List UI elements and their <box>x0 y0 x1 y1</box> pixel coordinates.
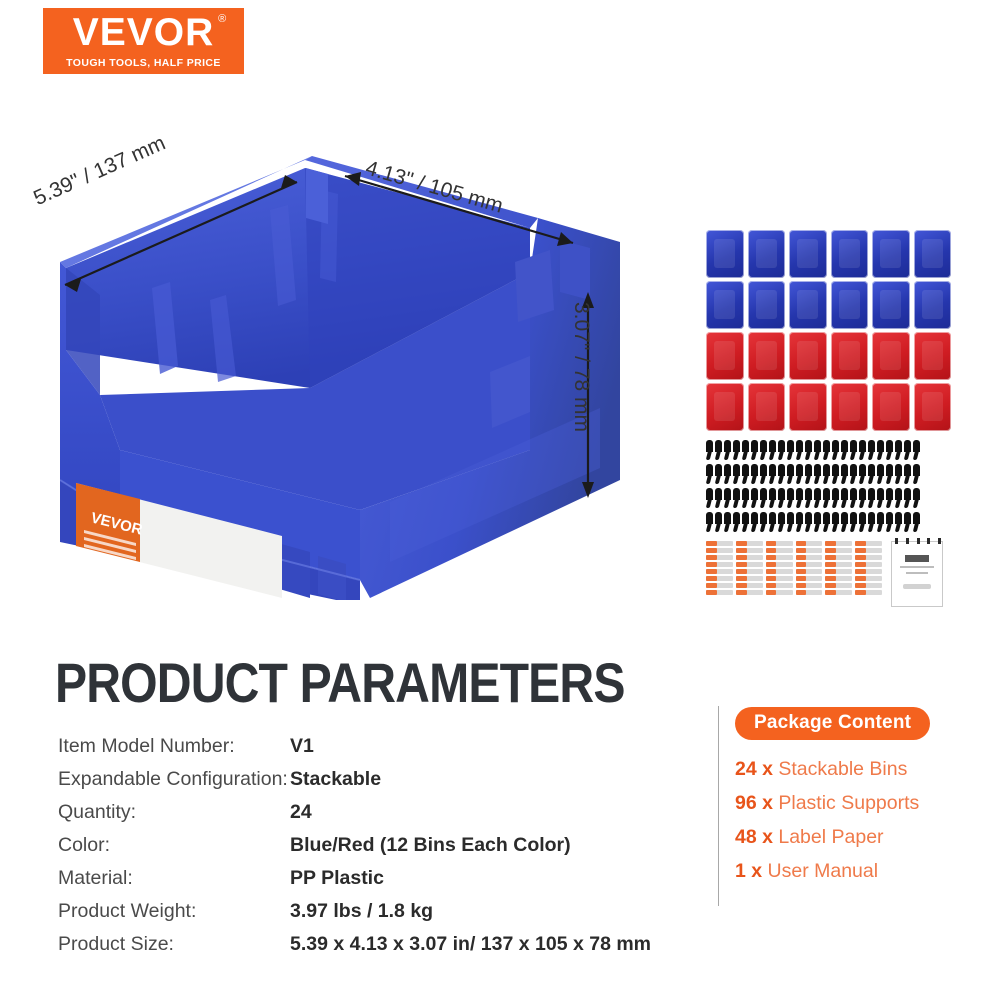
plastic-support-icon <box>841 464 849 483</box>
label-paper-strip <box>736 569 763 574</box>
plastic-support-icon <box>733 440 741 459</box>
arrowhead-icon <box>582 482 594 498</box>
label-paper-strip <box>855 541 882 546</box>
dimension-height-label: 3.07" / 78 mm <box>569 302 593 432</box>
parameter-value: Blue/Red (12 Bins Each Color) <box>290 834 571 857</box>
mini-bin-blue <box>872 230 910 278</box>
plastic-support-icon <box>859 512 867 531</box>
package-content-item: 96 x Plastic Supports <box>735 792 950 815</box>
plastic-support-icon <box>832 512 840 531</box>
label-paper-strip <box>796 541 823 546</box>
plastic-support-icon <box>913 440 921 459</box>
mini-bin-blue <box>831 281 869 329</box>
parameter-value: 5.39 x 4.13 x 3.07 in/ 137 x 105 x 78 mm <box>290 933 651 956</box>
mini-bin-red <box>706 383 744 431</box>
label-paper-strip <box>796 562 823 567</box>
plastic-support-icon <box>859 440 867 459</box>
plastic-support-icon <box>706 440 714 459</box>
manual-footer-block <box>903 584 931 589</box>
mini-bin-red <box>831 383 869 431</box>
manual-text-line <box>906 572 928 574</box>
mini-bins-grid <box>706 230 951 431</box>
plastic-support-icon <box>769 464 777 483</box>
label-paper-strip <box>825 583 852 588</box>
label-paper-strip <box>766 576 793 581</box>
plastic-support-icon <box>886 488 894 507</box>
plastic-support-icon <box>769 440 777 459</box>
plastic-support-icon <box>787 512 795 531</box>
plastic-support-icon <box>715 512 723 531</box>
plastic-support-icon <box>832 464 840 483</box>
plastic-support-icon <box>778 512 786 531</box>
plastic-support-icon <box>913 464 921 483</box>
plastic-support-icon <box>859 488 867 507</box>
plastic-support-icon <box>904 464 912 483</box>
plastic-support-icon <box>823 512 831 531</box>
plastic-support-icon <box>796 440 804 459</box>
mini-bin-red <box>789 332 827 380</box>
plastic-support-icon <box>724 488 732 507</box>
user-manual-visual <box>891 541 943 607</box>
plastic-support-icon <box>751 464 759 483</box>
plastic-support-icon <box>733 488 741 507</box>
label-paper-strip <box>825 590 852 595</box>
plastic-support-icon <box>724 464 732 483</box>
plastic-support-icon <box>877 488 885 507</box>
package-item-count: 24 x <box>735 758 773 780</box>
package-content-panel: Package Content 24 x Stackable Bins96 x … <box>735 707 950 883</box>
package-item-name: Label Paper <box>773 826 884 848</box>
plastic-support-icon <box>751 512 759 531</box>
plastic-support-icon <box>859 464 867 483</box>
label-paper-column <box>766 541 793 595</box>
parameter-row: Color:Blue/Red (12 Bins Each Color) <box>58 834 698 867</box>
plastic-support-icon <box>742 464 750 483</box>
parameter-row: Expandable Configuration:Stackable <box>58 768 698 801</box>
plastic-support-icon <box>877 440 885 459</box>
plastic-support-icon <box>868 512 876 531</box>
mini-bin-red <box>872 383 910 431</box>
plastic-supports-grid <box>706 440 951 531</box>
label-paper-column <box>736 541 763 595</box>
label-paper-strip <box>706 583 733 588</box>
plastic-support-icon <box>724 440 732 459</box>
plastic-support-icon <box>760 488 768 507</box>
parameter-value: 3.97 lbs / 1.8 kg <box>290 900 433 923</box>
label-paper-column <box>706 541 733 595</box>
plastic-support-icon <box>850 440 858 459</box>
label-paper-strip <box>766 583 793 588</box>
plastic-support-icon <box>904 440 912 459</box>
label-paper-grid <box>706 541 882 595</box>
logo-word-text: VEVOR <box>73 11 215 54</box>
plastic-support-icon <box>805 488 813 507</box>
plastic-support-icon <box>787 440 795 459</box>
plastic-support-icon <box>850 488 858 507</box>
arrowhead-icon <box>345 172 361 186</box>
registered-trademark-icon: ® <box>218 14 227 25</box>
plastic-support-icon <box>850 512 858 531</box>
plastic-support-icon <box>724 512 732 531</box>
label-paper-strip <box>855 562 882 567</box>
plastic-support-icon <box>715 464 723 483</box>
mini-bin-red <box>706 332 744 380</box>
plastic-support-icon <box>787 488 795 507</box>
package-content-item: 24 x Stackable Bins <box>735 758 950 781</box>
parameter-row: Product Weight:3.97 lbs / 1.8 kg <box>58 900 698 933</box>
plastic-support-icon <box>895 512 903 531</box>
plastic-support-icon <box>823 464 831 483</box>
plastic-support-icon <box>733 512 741 531</box>
plastic-support-icon <box>796 512 804 531</box>
plastic-support-icon <box>832 440 840 459</box>
manual-text-line <box>900 566 934 568</box>
label-paper-strip <box>855 576 882 581</box>
plastic-support-icon <box>715 488 723 507</box>
support-row <box>706 464 951 483</box>
plastic-support-icon <box>706 464 714 483</box>
label-paper-strip <box>736 562 763 567</box>
plastic-support-icon <box>778 464 786 483</box>
package-content-item: 1 x User Manual <box>735 860 950 883</box>
plastic-support-icon <box>814 440 822 459</box>
plastic-support-icon <box>886 512 894 531</box>
package-item-name: Plastic Supports <box>773 792 919 814</box>
plastic-support-icon <box>913 488 921 507</box>
plastic-support-icon <box>877 464 885 483</box>
mini-bin-blue <box>789 281 827 329</box>
parameter-label: Product Weight: <box>58 900 290 923</box>
label-paper-strip <box>706 548 733 553</box>
parameter-row: Item Model Number:V1 <box>58 735 698 768</box>
parameter-row: Material:PP Plastic <box>58 867 698 900</box>
parameter-value: Stackable <box>290 768 381 791</box>
plastic-support-icon <box>805 440 813 459</box>
label-paper-strip <box>855 569 882 574</box>
mini-bin-red <box>914 332 952 380</box>
label-paper-strip <box>736 590 763 595</box>
label-paper-strip <box>825 562 852 567</box>
label-paper-strip <box>855 583 882 588</box>
mini-bin-blue <box>706 230 744 278</box>
plastic-support-icon <box>796 464 804 483</box>
label-paper-strip <box>706 590 733 595</box>
plastic-support-icon <box>769 512 777 531</box>
parameter-row: Quantity:24 <box>58 801 698 834</box>
logo-tagline: TOUGH TOOLS, HALF PRICE <box>66 57 221 69</box>
plastic-support-icon <box>787 464 795 483</box>
plastic-support-icon <box>841 488 849 507</box>
plastic-support-icon <box>751 440 759 459</box>
label-paper-strip <box>766 562 793 567</box>
parameter-label: Expandable Configuration: <box>58 768 290 791</box>
label-paper-strip <box>796 569 823 574</box>
mini-bin-blue <box>914 281 952 329</box>
mini-bin-blue <box>872 281 910 329</box>
mini-bin-blue <box>748 281 786 329</box>
label-paper-and-manual <box>706 541 951 607</box>
label-paper-strip <box>796 555 823 560</box>
arrowhead-icon <box>557 232 573 246</box>
plastic-support-icon <box>895 440 903 459</box>
parameter-label: Color: <box>58 834 290 857</box>
plastic-support-icon <box>733 464 741 483</box>
label-paper-strip <box>855 555 882 560</box>
label-paper-strip <box>706 576 733 581</box>
support-row <box>706 488 951 507</box>
label-paper-strip <box>736 541 763 546</box>
parameter-label: Item Model Number: <box>58 735 290 758</box>
plastic-support-icon <box>868 464 876 483</box>
plastic-support-icon <box>778 488 786 507</box>
vertical-divider <box>718 706 719 906</box>
plastic-support-icon <box>823 440 831 459</box>
package-item-name: Stackable Bins <box>773 758 907 780</box>
package-content-title: Package Content <box>735 707 930 740</box>
plastic-support-icon <box>805 512 813 531</box>
parameter-value: 24 <box>290 801 312 824</box>
label-paper-strip <box>855 590 882 595</box>
plastic-support-icon <box>886 440 894 459</box>
label-paper-strip <box>736 576 763 581</box>
label-paper-strip <box>825 555 852 560</box>
plastic-support-icon <box>778 440 786 459</box>
label-paper-strip <box>855 548 882 553</box>
manual-brand-logo-icon <box>905 555 929 562</box>
plastic-support-icon <box>814 512 822 531</box>
plastic-support-icon <box>895 464 903 483</box>
label-paper-strip <box>796 548 823 553</box>
vevor-logo: VEVOR® TOUGH TOOLS, HALF PRICE <box>43 8 244 74</box>
mini-bin-red <box>748 332 786 380</box>
plastic-support-icon <box>796 488 804 507</box>
dimension-length <box>35 140 355 300</box>
label-paper-column <box>796 541 823 595</box>
parameter-label: Material: <box>58 867 290 890</box>
parameter-label: Quantity: <box>58 801 290 824</box>
label-paper-strip <box>706 569 733 574</box>
mini-bin-blue <box>706 281 744 329</box>
plastic-support-icon <box>877 512 885 531</box>
plastic-support-icon <box>832 488 840 507</box>
parameter-value: V1 <box>290 735 314 758</box>
plastic-support-icon <box>751 488 759 507</box>
hero-product-illustration: VEVOR 5.39" / 137 mm 4.13" / 105 mm <box>0 90 1000 620</box>
plastic-support-icon <box>823 488 831 507</box>
label-paper-strip <box>825 548 852 553</box>
label-paper-strip <box>796 590 823 595</box>
plastic-support-icon <box>841 512 849 531</box>
label-paper-strip <box>825 541 852 546</box>
label-paper-strip <box>736 583 763 588</box>
plastic-support-icon <box>868 440 876 459</box>
plastic-support-icon <box>886 464 894 483</box>
mini-bin-blue <box>914 230 952 278</box>
mini-bin-red <box>748 383 786 431</box>
plastic-support-icon <box>742 488 750 507</box>
plastic-support-icon <box>913 512 921 531</box>
plastic-support-icon <box>904 488 912 507</box>
parameter-value: PP Plastic <box>290 867 384 890</box>
plastic-support-icon <box>868 488 876 507</box>
product-parameters-table: Item Model Number:V1Expandable Configura… <box>58 735 698 966</box>
package-content-list: 24 x Stackable Bins96 x Plastic Supports… <box>735 758 950 883</box>
support-row <box>706 512 951 531</box>
package-item-name: User Manual <box>762 860 878 882</box>
page-title: PRODUCT PARAMETERS <box>55 650 625 715</box>
label-paper-strip <box>796 576 823 581</box>
plastic-support-icon <box>760 464 768 483</box>
plastic-support-icon <box>706 488 714 507</box>
plastic-support-icon <box>742 440 750 459</box>
package-item-count: 96 x <box>735 792 773 814</box>
label-paper-strip <box>825 569 852 574</box>
plastic-support-icon <box>769 488 777 507</box>
parameter-label: Product Size: <box>58 933 290 956</box>
mini-bin-blue <box>789 230 827 278</box>
mini-bin-red <box>914 383 952 431</box>
label-paper-strip <box>766 569 793 574</box>
label-paper-column <box>825 541 852 595</box>
label-paper-strip <box>736 548 763 553</box>
mini-bin-blue <box>831 230 869 278</box>
label-paper-strip <box>796 583 823 588</box>
bin-stage: VEVOR 5.39" / 137 mm 4.13" / 105 mm <box>60 150 620 600</box>
package-item-count: 1 x <box>735 860 762 882</box>
label-paper-strip <box>766 590 793 595</box>
plastic-support-icon <box>850 464 858 483</box>
label-paper-strip <box>736 555 763 560</box>
manual-spiral-rings <box>895 538 941 544</box>
plastic-support-icon <box>760 512 768 531</box>
mini-bin-blue <box>748 230 786 278</box>
plastic-support-icon <box>715 440 723 459</box>
mini-bin-red <box>789 383 827 431</box>
label-paper-strip <box>706 555 733 560</box>
support-row <box>706 440 951 459</box>
plastic-support-icon <box>760 440 768 459</box>
plastic-support-icon <box>814 488 822 507</box>
plastic-support-icon <box>805 464 813 483</box>
parameter-row: Product Size:5.39 x 4.13 x 3.07 in/ 137 … <box>58 933 698 966</box>
label-paper-strip <box>766 555 793 560</box>
plastic-support-icon <box>742 512 750 531</box>
label-paper-strip <box>766 541 793 546</box>
plastic-support-icon <box>895 488 903 507</box>
label-paper-strip <box>766 548 793 553</box>
package-item-count: 48 x <box>735 826 773 848</box>
label-paper-column <box>855 541 882 595</box>
mini-bin-red <box>872 332 910 380</box>
label-paper-strip <box>706 562 733 567</box>
logo-wordmark: VEVOR® <box>73 13 215 52</box>
label-paper-strip <box>825 576 852 581</box>
package-content-item: 48 x Label Paper <box>735 826 950 849</box>
plastic-support-icon <box>841 440 849 459</box>
plastic-support-icon <box>814 464 822 483</box>
plastic-support-icon <box>706 512 714 531</box>
mini-bin-red <box>831 332 869 380</box>
package-contents-visual <box>706 230 951 660</box>
label-paper-strip <box>706 541 733 546</box>
plastic-support-icon <box>904 512 912 531</box>
